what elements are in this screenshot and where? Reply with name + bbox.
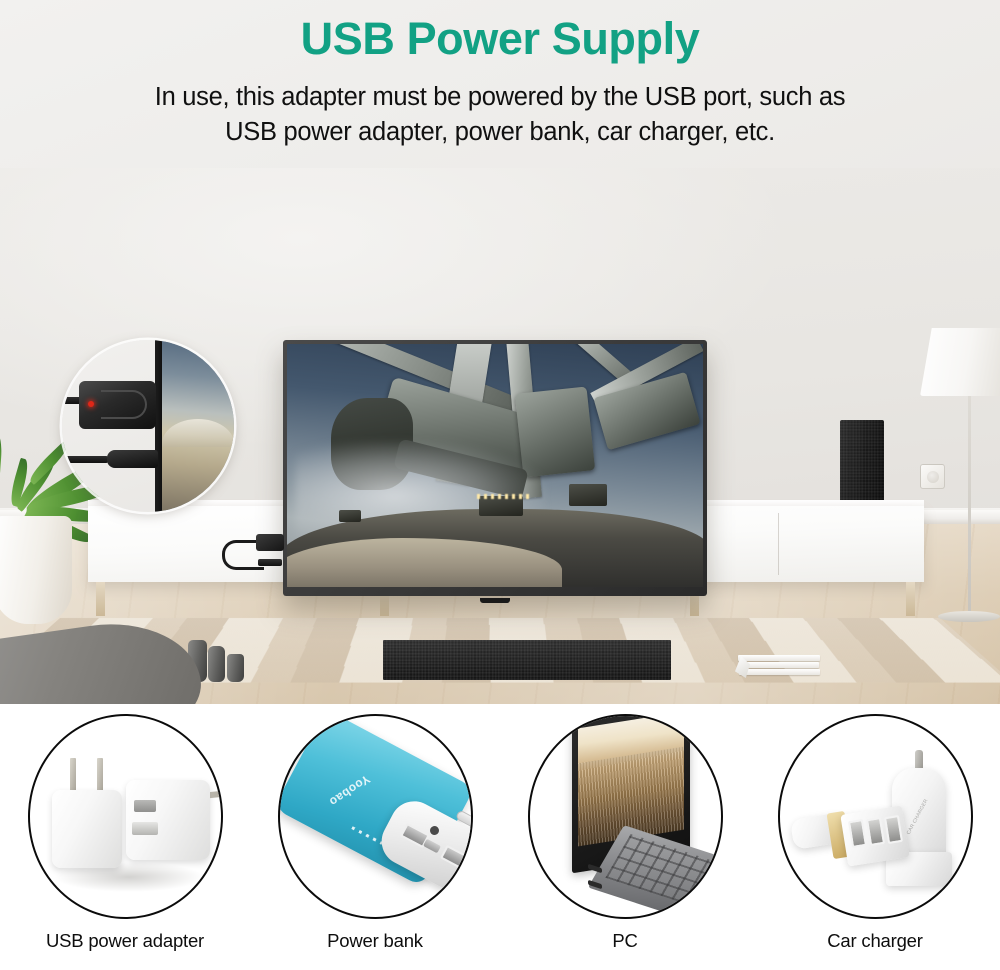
speaker-right bbox=[840, 420, 884, 505]
wall-outlet bbox=[920, 464, 945, 489]
subtitle-line-1: In use, this adapter must be powered by … bbox=[50, 80, 950, 115]
subtitle-line-2: USB power adapter, power bank, car charg… bbox=[50, 115, 950, 150]
hdmi-adapter bbox=[256, 534, 284, 551]
power-bank-brand: Yoobao bbox=[327, 772, 373, 809]
header-banner: USB Power Supply In use, this adapter mu… bbox=[0, 0, 1000, 168]
page-title: USB Power Supply bbox=[0, 12, 1000, 65]
plant-pot bbox=[0, 516, 72, 624]
vase-small bbox=[227, 654, 244, 682]
haul-truck bbox=[569, 484, 607, 506]
charger-prong bbox=[70, 758, 76, 791]
car-charger-tip bbox=[915, 750, 923, 770]
caption-pc: PC bbox=[500, 930, 750, 952]
usb-port bbox=[134, 800, 156, 812]
hdmi-adapter-closeup bbox=[79, 381, 156, 429]
soundbar bbox=[383, 640, 671, 680]
bubble-car-charger: CAR CHARGER bbox=[778, 714, 973, 919]
tv-screen-closeup bbox=[162, 340, 234, 512]
rig-lights bbox=[477, 494, 533, 499]
product-pc: PC bbox=[500, 714, 750, 970]
wall-mounted-tv bbox=[283, 340, 707, 596]
console-leg bbox=[906, 582, 915, 616]
bubble-power-bank: Yoobao bbox=[278, 714, 473, 919]
usb-plug-closeup bbox=[107, 450, 158, 468]
adapter-closeup-magnifier bbox=[62, 340, 234, 512]
adapter-slot bbox=[101, 390, 147, 419]
product-power-bank: Yoobao Power bank bbox=[250, 714, 500, 970]
power-led-indicator bbox=[88, 401, 94, 407]
console-leg bbox=[96, 582, 105, 616]
product-usb-power-adapter: USB power adapter bbox=[0, 714, 250, 970]
caption-car-charger: Car charger bbox=[750, 930, 1000, 952]
product-car-charger: CAR CHARGER Car charger bbox=[750, 714, 1000, 970]
floor-lamp-shade bbox=[920, 328, 1000, 396]
floor-lamp-pole bbox=[968, 396, 971, 618]
tv-screen bbox=[287, 344, 703, 587]
caption-power-bank: Power bank bbox=[250, 930, 500, 952]
console-seam bbox=[778, 513, 779, 575]
product-infographic: USB Power Supply In use, this adapter mu… bbox=[0, 0, 1000, 970]
bubble-usb-power-adapter bbox=[28, 714, 223, 919]
bubble-pc bbox=[528, 714, 723, 919]
vase-medium bbox=[208, 646, 225, 682]
wall-charger-front bbox=[52, 790, 122, 868]
charger-prong bbox=[97, 758, 103, 791]
power-source-options: USB power adapter Yoobao Power bank bbox=[0, 704, 1000, 970]
page-subtitle: In use, this adapter must be powered by … bbox=[50, 80, 950, 150]
adapter-usb-cable-closeup bbox=[62, 456, 108, 463]
floor-lamp-base bbox=[938, 611, 1000, 622]
haul-truck bbox=[479, 496, 523, 516]
adapter-hdmi-plug bbox=[258, 559, 282, 566]
book-stack bbox=[738, 655, 820, 675]
caption-usb-power-adapter: USB power adapter bbox=[0, 930, 250, 952]
usb-port-label bbox=[132, 822, 158, 835]
haul-truck bbox=[339, 510, 361, 522]
wall-charger-back bbox=[126, 780, 210, 860]
tv-brand-logo bbox=[480, 598, 510, 603]
living-room-photo bbox=[0, 168, 1000, 704]
